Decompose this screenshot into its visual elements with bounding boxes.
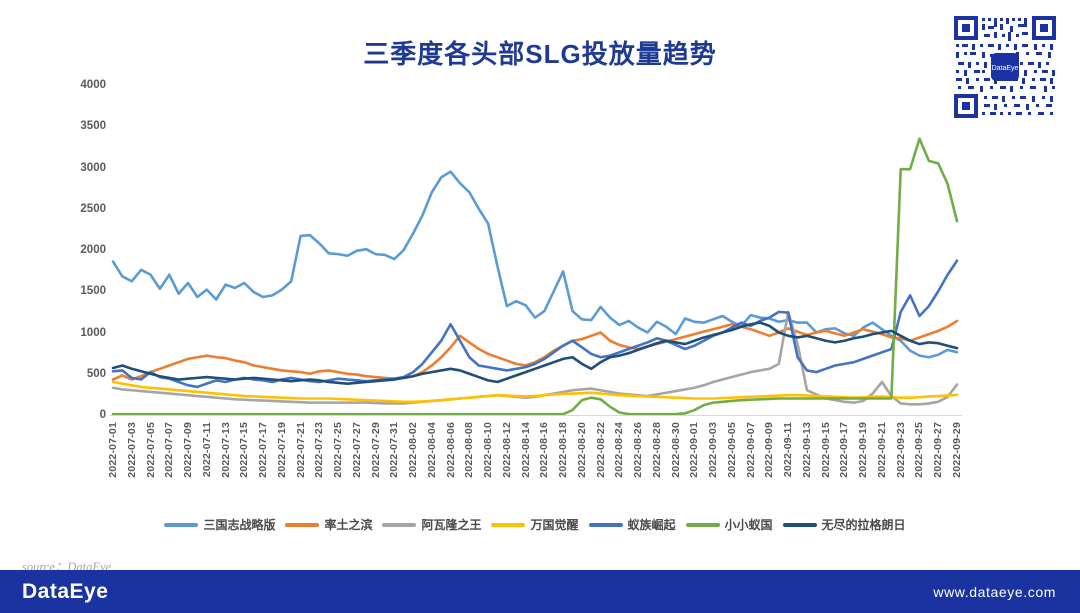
legend-label: 三国志战略版 [203,516,275,533]
x-axis-tick: 2022-08-30 [670,422,682,478]
x-axis-tick: 2022-09-19 [857,422,869,478]
x-axis-tick: 2022-09-01 [688,422,700,478]
x-axis-tick: 2022-07-27 [351,422,363,478]
chart-legend: 三国志战略版率土之滨阿瓦隆之王万国觉醒蚁族崛起小小蚁国无尽的拉格朗日 [0,516,1080,533]
x-axis-tick: 2022-09-05 [726,422,738,478]
x-axis-tick: 2022-09-25 [913,422,925,478]
page-title: 三季度各头部SLG投放量趋势 [0,34,1080,71]
y-axis-tick: 3000 [58,162,106,174]
line-chart-svg [110,85,960,415]
y-axis-tick: 1000 [58,327,106,339]
qr-code-svg: DataEye [950,12,1060,122]
x-axis-tick: 2022-07-13 [220,422,232,478]
legend-color-swatch [783,523,817,527]
x-axis-tick: 2022-09-09 [763,422,775,478]
x-axis-tick: 2022-08-06 [445,422,457,478]
legend-item[interactable]: 小小蚁国 [686,516,773,533]
x-axis-tick: 2022-08-18 [557,422,569,478]
x-axis-tick: 2022-09-13 [801,422,813,478]
legend-label: 阿瓦隆之王 [421,516,481,533]
x-axis-tick: 2022-08-28 [651,422,663,478]
axis-baseline [110,415,962,416]
footer-logo: DataEye [22,580,108,604]
x-axis-tick: 2022-09-03 [707,422,719,478]
x-axis-tick: 2022-07-03 [126,422,138,478]
x-axis-tick: 2022-07-15 [238,422,250,478]
legend-color-swatch [164,523,198,527]
x-axis-tick: 2022-08-10 [482,422,494,478]
x-axis-tick: 2022-07-05 [145,422,157,478]
legend-item[interactable]: 无尽的拉格朗日 [783,516,906,533]
x-axis-tick: 2022-09-23 [895,422,907,478]
legend-color-swatch [491,523,525,527]
x-axis-tick: 2022-08-26 [632,422,644,478]
y-axis: 05001000150020002500300035004000 [58,78,106,422]
x-axis-tick: 2022-09-15 [820,422,832,478]
x-axis-tick: 2022-08-12 [501,422,513,478]
legend-item[interactable]: 蚁族崛起 [589,516,676,533]
y-axis-tick: 0 [58,409,106,421]
x-axis-tick: 2022-08-02 [407,422,419,478]
y-axis-tick: 500 [58,368,106,380]
x-axis-tick: 2022-09-17 [838,422,850,478]
y-axis-tick: 4000 [58,79,106,91]
slide-page: 三季度各头部SLG投放量趋势 [0,0,1080,613]
x-axis-tick: 2022-07-09 [182,422,194,478]
plot-area [110,85,960,415]
x-axis-tick: 2022-07-23 [313,422,325,478]
x-axis-tick: 2022-07-31 [388,422,400,478]
x-axis-tick: 2022-08-24 [613,422,625,478]
y-axis-tick: 1500 [58,285,106,297]
x-axis: 2022-07-012022-07-032022-07-052022-07-07… [110,418,960,508]
x-axis-tick: 2022-08-04 [426,422,438,478]
legend-label: 率土之滨 [324,516,372,533]
x-axis-tick: 2022-07-25 [332,422,344,478]
x-axis-tick: 2022-07-17 [257,422,269,478]
x-axis-tick: 2022-08-22 [595,422,607,478]
footer-bar: DataEye www.dataeye.com [0,570,1080,613]
y-axis-tick: 2000 [58,244,106,256]
y-axis-tick: 3500 [58,120,106,132]
legend-item[interactable]: 万国觉醒 [491,516,578,533]
x-axis-tick: 2022-07-19 [276,422,288,478]
footer-url[interactable]: www.dataeye.com [933,584,1056,600]
y-axis-tick: 2500 [58,203,106,215]
x-axis-tick: 2022-08-16 [538,422,550,478]
legend-color-swatch [686,523,720,527]
x-axis-tick: 2022-07-29 [370,422,382,478]
x-axis-tick: 2022-09-27 [932,422,944,478]
x-axis-tick: 2022-07-01 [107,422,119,478]
qr-center-label: DataEye [992,65,1019,72]
legend-label: 蚁族崛起 [628,516,676,533]
series-line [113,312,957,404]
legend-color-swatch [589,523,623,527]
series-line [113,139,957,415]
legend-color-swatch [382,523,416,527]
x-axis-tick: 2022-08-08 [463,422,475,478]
qr-code[interactable]: DataEye [950,12,1060,122]
legend-label: 无尽的拉格朗日 [822,516,906,533]
legend-label: 小小蚁国 [725,516,773,533]
x-axis-tick: 2022-09-29 [951,422,963,478]
x-axis-tick: 2022-07-21 [295,422,307,478]
x-axis-tick: 2022-07-11 [201,422,213,477]
x-axis-tick: 2022-09-07 [745,422,757,478]
x-axis-tick: 2022-09-21 [876,422,888,478]
x-axis-tick: 2022-07-07 [163,422,175,478]
legend-item[interactable]: 阿瓦隆之王 [382,516,481,533]
x-axis-tick: 2022-08-14 [520,422,532,478]
legend-item[interactable]: 三国志战略版 [164,516,275,533]
legend-item[interactable]: 率土之滨 [285,516,372,533]
x-axis-tick: 2022-08-20 [576,422,588,478]
series-line [113,172,957,358]
legend-label: 万国觉醒 [530,516,578,533]
x-axis-tick: 2022-09-11 [782,422,794,477]
legend-color-swatch [285,523,319,527]
